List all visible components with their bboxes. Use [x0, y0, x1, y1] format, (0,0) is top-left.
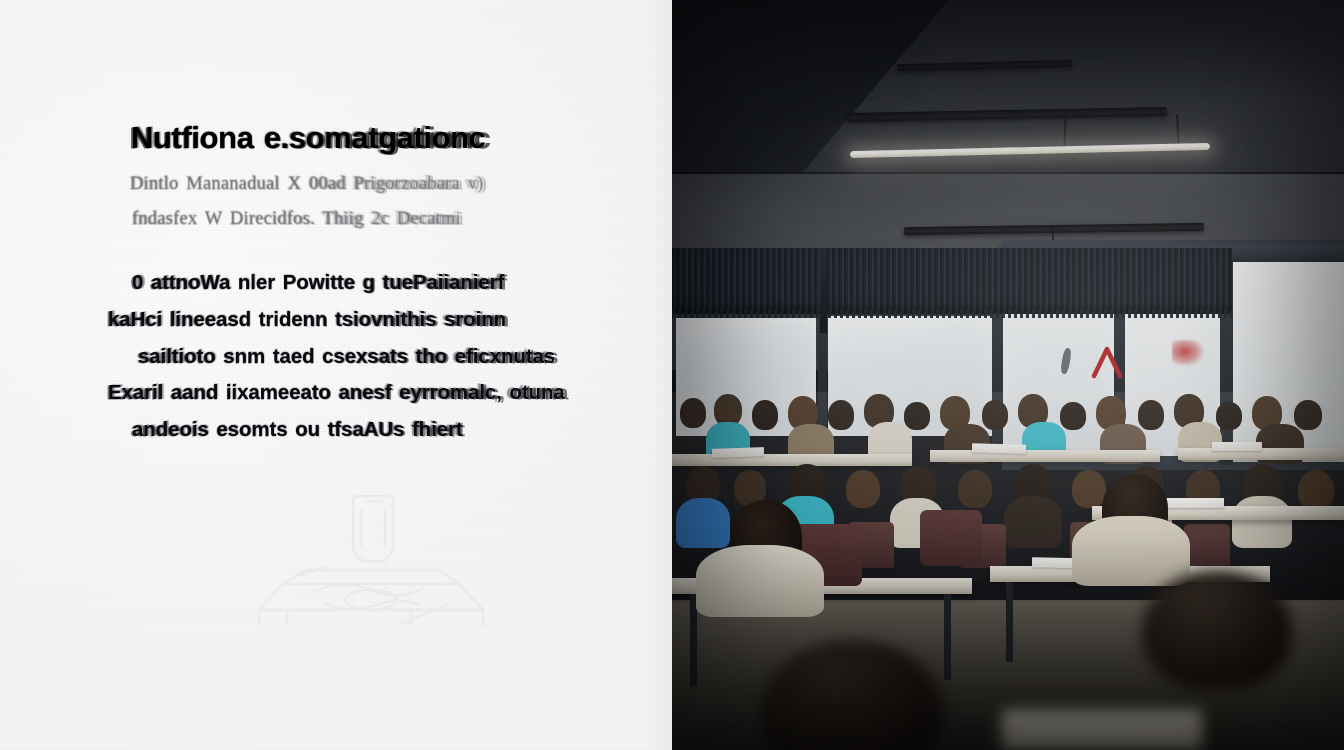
body-line: 0 attnoWa nler Powitte g tuePaiianierf: [132, 265, 608, 302]
body-paragraph: 0 attnoWa nler Powitte g tuePaiianierf k…: [108, 265, 608, 449]
desk-and-paper-watermark-icon: [253, 492, 489, 632]
window-blinds: [672, 248, 1232, 314]
body-line: Exaril aand iixameeato anesf eyrromalc, …: [108, 375, 608, 412]
body-line: sailtioto snm taed csexsats tho eficxnut…: [138, 339, 608, 376]
subtitle-line: Dintlo Mananadual X 00ad Prigorzoabara v…: [130, 167, 484, 202]
body-line: andeois esomts ou tfsaAUs fhiert: [132, 412, 608, 449]
subtitle-line: fndasfex W Direcidfos. Thiig 2c Decatmi: [132, 202, 484, 237]
red-smudge-mark: [1172, 340, 1204, 366]
left-text-panel: Nutfiona e.somatgationc Dintlo Mananadua…: [0, 0, 672, 750]
red-lambda-mark-icon: [1090, 345, 1124, 379]
blinds-bottom-edge: [672, 310, 1232, 318]
split-panel-composition: Nutfiona e.somatgationc Dintlo Mananadua…: [0, 0, 1344, 750]
foreground-blur-layer: [672, 560, 1344, 750]
body-line: kaHci lineeasd tridenn tsiovnithis sroin…: [108, 302, 608, 339]
blinds-post: [820, 248, 827, 333]
page-subtitle: Dintlo Mananadual X 00ad Prigorzoabara v…: [130, 167, 484, 237]
classroom-photo: [672, 0, 1344, 750]
page-title: Nutfiona e.somatgationc: [131, 120, 486, 156]
page-title-text: Nutfiona e.somatgationc: [131, 120, 486, 156]
